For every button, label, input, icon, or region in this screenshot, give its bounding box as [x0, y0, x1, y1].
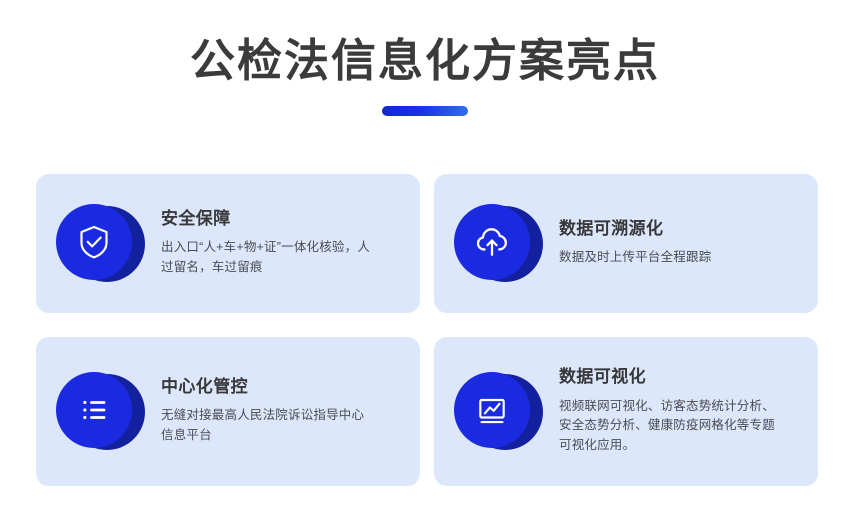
icon-badge — [451, 201, 543, 287]
icon-badge — [53, 201, 145, 287]
card-description: 无缝对接最高人民法院诉讼指导中心信息平台 — [161, 406, 376, 446]
icon-badge — [53, 369, 145, 455]
feature-card[interactable]: 中心化管控 无缝对接最高人民法院诉讼指导中心信息平台 — [36, 337, 420, 486]
feature-highlights-page: 公检法信息化方案亮点 安全保障 出入口“人+车+物+证”一体化核 — [0, 0, 850, 516]
card-description: 出入口“人+车+物+证”一体化核验，人过留名，车过留痕 — [161, 238, 376, 278]
icon-circle — [454, 372, 530, 448]
icon-circle — [56, 204, 132, 280]
list-icon — [74, 390, 114, 430]
card-title: 数据可溯源化 — [559, 219, 711, 239]
cloud-upload-icon — [471, 221, 513, 263]
feature-card-grid: 安全保障 出入口“人+车+物+证”一体化核验，人过留名，车过留痕 — [36, 174, 818, 486]
card-title: 中心化管控 — [161, 377, 376, 397]
card-body: 数据可视化 视频联网可视化、访客态势统计分析、安全态势分析、健康防疫网格化等专题… — [543, 367, 788, 456]
feature-card[interactable]: 安全保障 出入口“人+车+物+证”一体化核验，人过留名，车过留痕 — [36, 174, 420, 313]
chart-monitor-icon — [472, 390, 512, 430]
card-body: 安全保障 出入口“人+车+物+证”一体化核验，人过留名，车过留痕 — [145, 209, 380, 278]
icon-badge — [451, 369, 543, 455]
card-description: 视频联网可视化、访客态势统计分析、安全态势分析、健康防疫网格化等专题可视化应用。 — [559, 397, 784, 456]
feature-card[interactable]: 数据可溯源化 数据及时上传平台全程跟踪 — [434, 174, 818, 313]
shield-check-icon — [74, 222, 114, 262]
card-title: 安全保障 — [161, 209, 376, 229]
card-title: 数据可视化 — [559, 367, 784, 387]
feature-card[interactable]: 数据可视化 视频联网可视化、访客态势统计分析、安全态势分析、健康防疫网格化等专题… — [434, 337, 818, 486]
card-description: 数据及时上传平台全程跟踪 — [559, 248, 711, 268]
card-body: 数据可溯源化 数据及时上传平台全程跟踪 — [543, 219, 715, 268]
page-header: 公检法信息化方案亮点 — [0, 0, 850, 116]
card-body: 中心化管控 无缝对接最高人民法院诉讼指导中心信息平台 — [145, 377, 380, 446]
icon-circle — [56, 372, 132, 448]
page-title: 公检法信息化方案亮点 — [0, 34, 850, 87]
icon-circle — [454, 204, 530, 280]
title-underline-accent — [382, 106, 468, 116]
